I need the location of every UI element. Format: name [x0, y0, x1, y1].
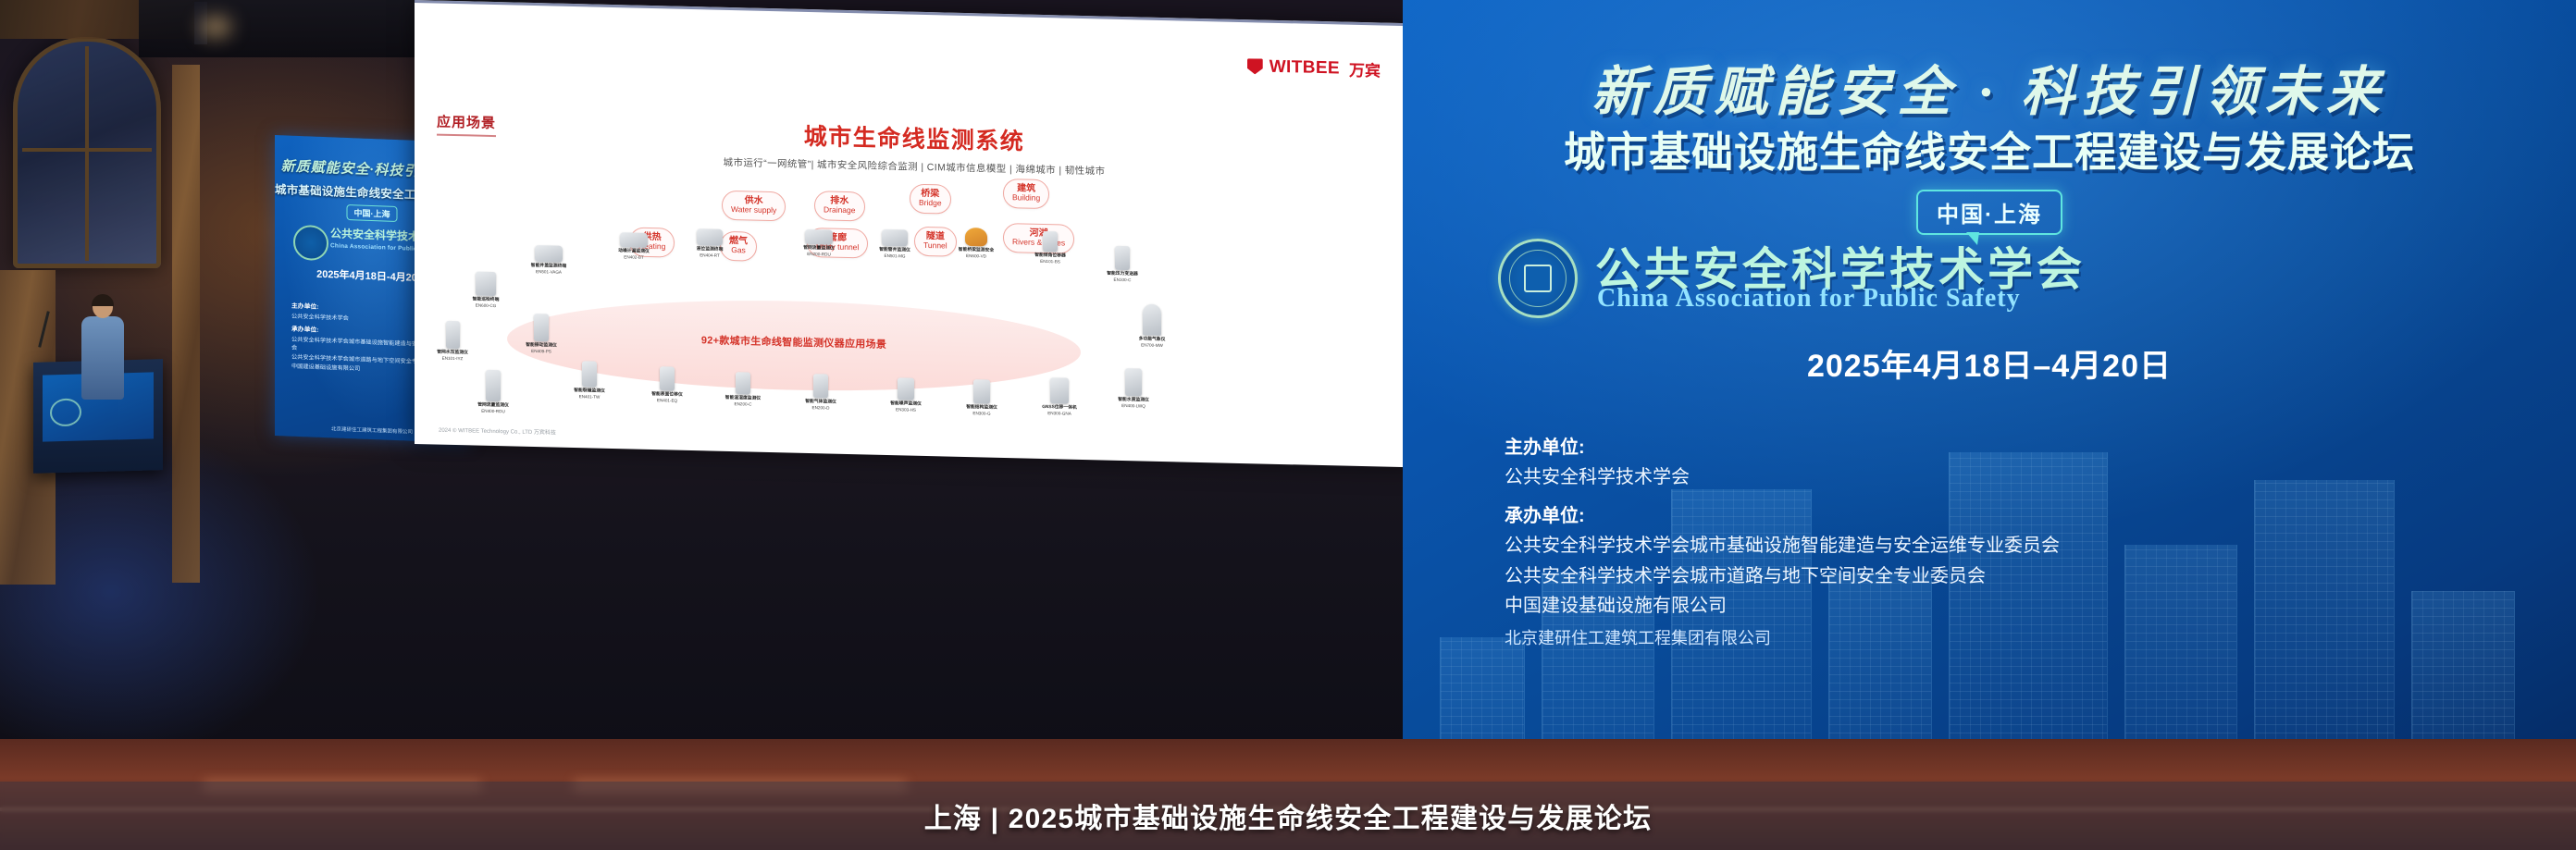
device-item: 智能气体监测仪 EN200-D — [786, 373, 855, 411]
device-model: EN600-VD — [966, 253, 986, 259]
wood-panel — [172, 65, 200, 583]
device-model: EN600-CG — [476, 302, 496, 308]
cohost-item: 中国建设基础设施有限公司 — [1505, 591, 2060, 621]
device-label: 管网水压监测仪 EN101-IYZ — [418, 350, 487, 362]
device-label: 智能结构监测仪 EN300-G — [947, 405, 1016, 417]
mini-cohost-item: 中国建设基础设施有限公司 — [291, 363, 360, 372]
scene-bubble: 桥梁 Bridge — [910, 184, 951, 215]
device-icon — [882, 229, 908, 247]
device-icon — [535, 245, 563, 263]
tail-organization: 北京建研住工建筑工程集团有限公司 — [1505, 625, 1771, 649]
device-item: 动噪计漏监测仪 EN402-BT — [600, 232, 668, 261]
device-model: EN402-BT — [624, 254, 643, 260]
wall-forum-title: 城市基础设施生命线安全工程建设与发展论坛 — [1403, 118, 2576, 179]
device-label: 智能气体监测仪 EN200-D — [786, 399, 855, 411]
association-name-en: China Association for Public Safety — [1597, 284, 2021, 314]
device-label: 管网流量监测仪 EN200-RDU — [785, 245, 853, 257]
device-model: EN300-G — [972, 411, 990, 415]
device-model: EN700-MW — [1141, 342, 1163, 348]
device-model: EN400-LWQ — [1121, 403, 1146, 409]
device-label: 智能水质监测仪 EN400-LWQ — [1099, 397, 1168, 409]
cohost-block: 承办单位: 公共安全科学技术学会城市基础设施智能建造与安全运维专业委员会 公共安… — [1505, 501, 2060, 622]
device-icon — [1125, 368, 1142, 396]
wall-calligraphy: 新质赋能安全 · 科技引领未来 — [1403, 48, 2576, 126]
device-icon — [813, 374, 828, 398]
mini-location-chip: 中国·上海 — [347, 204, 398, 222]
mini-association-seal-icon — [293, 225, 328, 261]
cohost-item: 公共安全科学技术学会城市基础设施智能建造与安全运维专业委员会 — [1505, 531, 2060, 561]
device-label: 液位监测终端 EN404-RT — [675, 247, 744, 259]
scene-en: Bridge — [919, 199, 942, 208]
host-item: 公共安全科学技术学会 — [1505, 462, 1690, 492]
device-label: 多功能气象仪 EN700-MW — [1118, 337, 1186, 349]
device-item: 管网流量监测仪 EN400-RDU — [459, 369, 527, 414]
device-label: 动噪计漏监测仪 EN402-BT — [600, 249, 668, 261]
device-label: 智能温湿度监测仪 EN200-C — [709, 395, 777, 407]
arched-window — [13, 37, 161, 268]
brand-text-cn: 万宾 — [1349, 57, 1381, 81]
association-seal-icon — [1498, 239, 1578, 318]
stage-spotlight — [200, 17, 231, 37]
device-model: EN400-RDU — [481, 408, 505, 413]
device-model: EN300-GNA — [1047, 411, 1071, 416]
device-model: EN200-C — [735, 401, 752, 406]
caption-bar: 上海 | 2025城市基础设施生命线安全工程建设与发展论坛 — [0, 782, 2576, 850]
device-model: EN200-D — [812, 405, 830, 410]
device-model: EN404-RT — [700, 253, 720, 258]
device-icon — [1143, 303, 1161, 335]
device-label: 智能巡检终端 EN600-CG — [452, 297, 520, 309]
device-label: 智能裂缝监测仪 EN401-TW — [555, 388, 624, 400]
device-model: EN303-HS — [896, 407, 916, 413]
device-model: EN100-C — [1114, 277, 1132, 282]
device-icon — [660, 366, 675, 390]
device-label: 智能倾角位移器 EN101-BS — [1016, 253, 1084, 265]
device-label: 智能桥梁监测安全 EN600-VD — [942, 247, 1010, 259]
cohost-heading: 承办单位: — [1505, 501, 2060, 531]
scene-en: Building — [1012, 193, 1040, 203]
device-model: EN101-BS — [1040, 259, 1060, 265]
location-chip: 中国·上海 — [1916, 190, 2062, 235]
scene-en: Drainage — [824, 206, 856, 216]
projection-screen: WITBEE 万宾 应用场景 城市生命线监测系统 城市运行“一网统管”| 城市安… — [415, 0, 1414, 444]
device-label: 智能噪声监测仪 EN303-HS — [872, 401, 940, 413]
device-icon — [973, 379, 990, 403]
device-icon — [476, 272, 496, 297]
device-item: 智能振动监测仪 EN409-PS — [507, 313, 576, 354]
device-model: EN501-VAGA — [536, 269, 562, 275]
device-icon — [805, 229, 833, 245]
witbee-mark-icon — [1247, 58, 1263, 74]
device-icon — [965, 228, 987, 247]
device-icon — [736, 372, 750, 394]
witbee-logo: WITBEE 万宾 — [1247, 55, 1381, 80]
slide-edge — [415, 0, 1414, 26]
device-label: 智能压力变送器 EN100-C — [1088, 271, 1157, 283]
device-label: GNSS位移一体机 EN300-GNA — [1025, 405, 1094, 417]
device-icon — [446, 321, 460, 349]
device-icon — [486, 370, 501, 401]
event-date: 2025年4月18日–4月20日 — [1403, 340, 2576, 386]
scene-en: Water supply — [731, 205, 776, 216]
device-item: 智能巡检终端 EN600-CG — [452, 271, 520, 309]
scene-bubble: 建筑 Building — [1003, 179, 1049, 209]
device-item: 智能井盖监测终端 EN501-VAGA — [514, 245, 583, 276]
device-item: 液位监测终端 EN404-RT — [675, 228, 744, 259]
device-icon — [697, 228, 723, 246]
stage-screenshot: 新质赋能安全·科技引领未来 城市基础设施生命线安全工程建设与发展论坛 中国·上海… — [0, 0, 2576, 850]
scene-bubble: 排水 Drainage — [814, 191, 865, 221]
mini-host-item: 公共安全科学技术学会 — [291, 313, 349, 321]
speaker-body — [81, 316, 124, 400]
device-model: EN409-PS — [531, 349, 551, 354]
device-label: 智能表面位移仪 EN401-EQ — [633, 392, 701, 404]
device-icon — [620, 232, 648, 248]
right-led-wall: 新质赋能安全 · 科技引领未来 城市基础设施生命线安全工程建设与发展论坛 中国·… — [1403, 0, 2576, 850]
caption-text: 上海 | 2025城市基础设施生命线安全工程建设与发展论坛 — [924, 795, 1653, 836]
device-item: 智能倾角位移器 EN101-BS — [1016, 230, 1084, 265]
device-item: 多功能气象仪 EN700-MW — [1118, 303, 1186, 349]
speaker-person — [81, 296, 124, 400]
device-model: EN401-TW — [579, 394, 601, 400]
device-model: EN101-IYZ — [442, 355, 464, 361]
device-item: GNSS位移一体机 EN300-GNA — [1025, 377, 1094, 417]
device-model: EN200-RDU — [807, 252, 831, 257]
device-item: 智能压力变送器 EN100-C — [1088, 245, 1157, 283]
cohost-item: 公共安全科学技术学会城市道路与地下空间安全专业委员会 — [1505, 561, 2060, 591]
slide-footer: 2024 © WITBEE Technology Co., LTD 万宾科技 — [439, 425, 556, 437]
host-block: 主办单位: 公共安全科学技术学会 — [1505, 433, 1690, 493]
device-label: 智能振动监测仪 EN409-PS — [507, 342, 576, 354]
device-item: 智能窨井监测仪 EN501-MG — [861, 228, 929, 259]
device-item: 智能桥梁监测安全 EN600-VD — [942, 227, 1010, 259]
device-icon — [534, 314, 549, 341]
host-heading: 主办单位: — [1505, 433, 1690, 462]
presentation-slide: WITBEE 万宾 应用场景 城市生命线监测系统 城市运行“一网统管”| 城市安… — [415, 0, 1414, 467]
device-icon — [1115, 246, 1130, 270]
speaker-hair — [92, 294, 114, 306]
device-item: 智能结构监测仪 EN300-G — [947, 379, 1016, 417]
device-icon — [1043, 231, 1058, 252]
device-item: 智能温湿度监测仪 EN200-C — [709, 371, 777, 407]
device-icon — [1050, 377, 1069, 403]
device-label: 智能窨井监测仪 EN501-MG — [861, 247, 929, 259]
brand-text: WITBEE — [1269, 56, 1340, 79]
scene-bubble: 供水 Water supply — [722, 191, 786, 221]
device-item: 管网水压监测仪 EN101-IYZ — [418, 320, 487, 362]
device-label: 智能井盖监测终端 EN501-VAGA — [514, 264, 583, 276]
device-item: 智能水质监测仪 EN400-LWQ — [1099, 367, 1168, 409]
device-icon — [582, 361, 597, 387]
device-item: 智能噪声监测仪 EN303-HS — [872, 377, 940, 413]
device-item: 智能裂缝监测仪 EN401-TW — [555, 361, 624, 400]
device-model: EN501-MG — [885, 253, 906, 259]
device-item: 智能表面位移仪 EN401-EQ — [633, 366, 701, 404]
device-model: EN401-EQ — [657, 398, 677, 403]
device-item: 管网流量监测仪 EN200-RDU — [785, 228, 853, 257]
device-icon — [898, 377, 914, 400]
device-label: 管网流量监测仪 EN400-RDU — [459, 402, 527, 414]
